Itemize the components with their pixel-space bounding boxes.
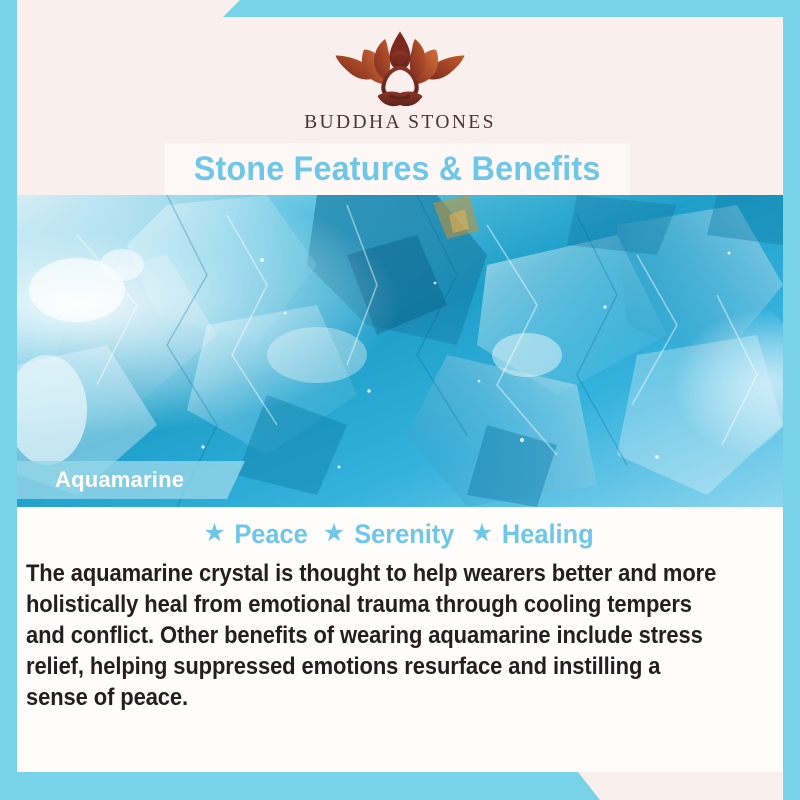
body-paragraph: The aquamarine crystal is thought to hel… — [26, 559, 725, 714]
stone-label: Aquamarine — [17, 467, 184, 493]
brand-header: BUDDHA STONES — [17, 17, 783, 143]
keyword-label: Peace — [234, 519, 307, 550]
keyword-label: Healing — [502, 519, 594, 550]
decorative-frame-top — [0, 0, 800, 18]
aquamarine-crystal-illustration — [17, 195, 783, 507]
poster-root: BUDDHA STONES Stone Features & Benefits — [0, 0, 800, 800]
stone-label-chip: Aquamarine — [17, 461, 245, 499]
page-title: Stone Features & Benefits — [194, 150, 601, 189]
brand-name: BUDDHA STONES — [304, 112, 496, 134]
keyword-item-healing: ★ Healing — [471, 519, 597, 550]
hero-image: Aquamarine — [17, 195, 783, 507]
keyword-item-peace: ★ Peace — [203, 519, 310, 550]
keyword-label: Serenity — [354, 519, 454, 550]
title-banner: Stone Features & Benefits — [165, 143, 630, 195]
decorative-frame-left — [0, 0, 17, 800]
decorative-frame-right — [783, 0, 800, 800]
keyword-item-serenity: ★ Serenity — [323, 519, 458, 550]
star-icon: ★ — [203, 521, 225, 546]
page-content: BUDDHA STONES Stone Features & Benefits — [17, 17, 783, 772]
lotus-meditation-logo-icon — [325, 27, 475, 111]
star-icon: ★ — [323, 521, 345, 546]
star-icon: ★ — [471, 521, 493, 546]
decorative-frame-bottom — [0, 772, 800, 800]
keyword-row: ★ Peace ★ Serenity ★ Healing — [17, 512, 783, 556]
